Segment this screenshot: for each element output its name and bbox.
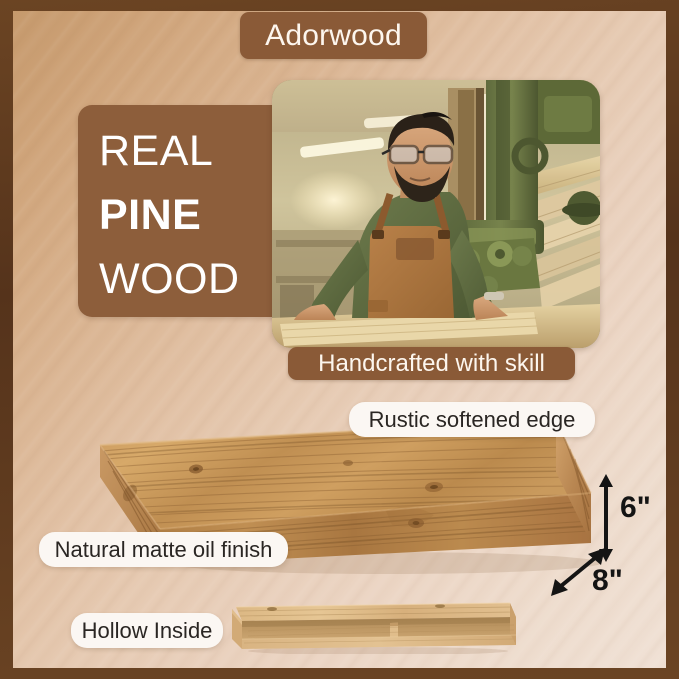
claim-line-real: REAL: [99, 119, 293, 183]
product-hollow-view: [228, 601, 519, 654]
feature-label-hollow-inside-text: Hollow Inside: [82, 618, 213, 644]
workshop-photo: [272, 80, 600, 348]
claim-panel: REAL PINE WOOD: [78, 105, 293, 317]
claim-line-wood: WOOD: [99, 247, 293, 311]
depth-dimension-label: 8": [592, 564, 623, 598]
claim-line-pine: PINE: [99, 183, 293, 247]
brand-name: Adorwood: [265, 19, 402, 53]
feature-label-hollow-inside: Hollow Inside: [71, 613, 223, 648]
feature-label-rustic-edge: Rustic softened edge: [349, 402, 595, 437]
height-dimension-label: 6": [620, 491, 651, 525]
feature-label-oil-finish-text: Natural matte oil finish: [55, 537, 273, 563]
photo-caption-badge: Handcrafted with skill: [288, 347, 575, 380]
photo-caption-text: Handcrafted with skill: [318, 350, 545, 378]
feature-label-rustic-edge-text: Rustic softened edge: [369, 407, 576, 433]
brand-badge: Adorwood: [240, 12, 427, 59]
product-infographic: Adorwood REAL PINE WOOD: [0, 0, 679, 679]
feature-label-oil-finish: Natural matte oil finish: [39, 532, 288, 567]
